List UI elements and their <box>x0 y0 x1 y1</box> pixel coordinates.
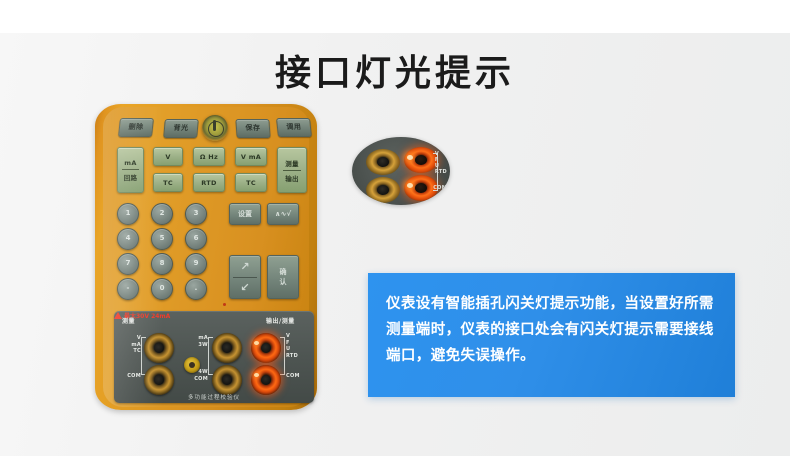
key-3[interactable]: 3 <box>185 203 207 225</box>
key-dot[interactable]: . <box>185 278 207 300</box>
jack-output-com[interactable] <box>251 365 281 395</box>
arrow-down-icon: ↙ <box>230 278 260 298</box>
terminal-label-ma-3w: mA3W <box>190 335 208 348</box>
arrow-up-icon: ↗ <box>230 257 260 277</box>
key-9[interactable]: 9 <box>185 253 207 275</box>
key-6[interactable]: 6 <box>185 228 207 250</box>
save-button[interactable]: 保存 <box>235 119 270 138</box>
v-ma-key[interactable]: V mA <box>235 147 267 166</box>
ohm-hz-key[interactable]: Ω Hz <box>193 147 225 166</box>
jack-measure-v-ma-tc[interactable] <box>144 333 174 363</box>
bracket <box>280 337 285 375</box>
page-root: 接口灯光提示 删除 背光 保存 调用 mA 回路 V <box>0 0 790 456</box>
terminal-closeup-inset: VFURTD COM <box>352 137 450 205</box>
measure-section-label: 测量 <box>122 316 135 325</box>
confirm-button[interactable]: 确 认 <box>267 255 299 299</box>
tc-key-2[interactable]: TC <box>235 173 267 192</box>
measure-output-key-bottom: 输出 <box>285 173 299 183</box>
device-photo: 删除 背光 保存 调用 mA 回路 V Ω Hz V mA TC RTD <box>95 104 317 410</box>
rtd-key[interactable]: RTD <box>193 173 225 192</box>
delete-button[interactable]: 删除 <box>118 118 154 137</box>
key-5[interactable]: 5 <box>151 228 173 250</box>
power-button[interactable] <box>202 115 228 141</box>
divider <box>283 170 301 171</box>
arrow-button[interactable]: ↗ ↙ <box>229 255 261 299</box>
device-function-key-area: mA 回路 V Ω Hz V mA TC RTD TC 测量 输出 <box>117 147 311 197</box>
backlight-button[interactable]: 背光 <box>163 119 199 138</box>
ma-loop-key-bottom: 回路 <box>124 172 138 182</box>
ma-loop-key-top: mA <box>124 159 136 167</box>
inset-jack-bottom-left <box>366 177 400 203</box>
device-top-button-row: 删除 背光 保存 调用 <box>119 115 309 137</box>
numeric-keypad: 1 2 3 4 5 6 7 8 9 - 0 . <box>117 203 217 299</box>
key-0[interactable]: 0 <box>151 278 173 300</box>
page-title: 接口灯光提示 <box>0 44 790 96</box>
output-measure-section-label: 输出/测量 <box>266 316 295 325</box>
terminal-label-v-ma-tc: VmATC <box>121 335 141 355</box>
device-brand-text: 多功能过程校验仪 <box>114 393 314 401</box>
power-icon <box>208 121 224 137</box>
ma-loop-key[interactable]: mA 回路 <box>117 147 144 193</box>
inset-jack-top-left <box>366 149 400 175</box>
terminal-label-com-right: COM <box>286 373 308 380</box>
tc-key-1[interactable]: TC <box>153 173 183 192</box>
key-7[interactable]: 7 <box>117 253 139 275</box>
confirm-button-top: 确 <box>280 267 287 277</box>
background-top-band <box>0 0 790 33</box>
description-callout: 仪表设有智能插孔闪关灯提示功能，当设置好所需测量端时，仪表的接口处会有闪关灯提示… <box>368 273 735 397</box>
terminal-label-com-left: COM <box>119 373 141 380</box>
waveform-button[interactable]: ∧∿√ <box>267 203 299 225</box>
inset-label-v-f-u-rtd: VFURTD <box>435 151 447 175</box>
setting-button[interactable]: 设置 <box>229 203 261 225</box>
v-key[interactable]: V <box>153 147 183 166</box>
callout-text: 仪表设有智能插孔闪关灯提示功能，当设置好所需测量端时，仪表的接口处会有闪关灯提示… <box>368 273 735 369</box>
ground-terminal[interactable] <box>184 357 200 373</box>
jack-measure-com[interactable] <box>144 365 174 395</box>
jack-output-v-f-u-rtd[interactable] <box>251 333 281 363</box>
terminal-panel: 测量 最大30V 24mA 输出/测量 VmATC COM mA3W 4WCOM… <box>114 311 314 403</box>
key-8[interactable]: 8 <box>151 253 173 275</box>
warning-triangle-icon <box>114 312 122 319</box>
terminal-label-v-f-u-rtd: VFURTD <box>286 333 308 359</box>
inset-label-com: COM <box>433 185 447 191</box>
key-2[interactable]: 2 <box>151 203 173 225</box>
jack-output-ma-3w[interactable] <box>212 333 242 363</box>
device-faceplate: 删除 背光 保存 调用 mA 回路 V Ω Hz V mA TC RTD <box>103 107 309 407</box>
status-led <box>223 303 226 306</box>
divider <box>122 169 139 170</box>
measure-output-key-top: 测量 <box>285 158 299 168</box>
key-4[interactable]: 4 <box>117 228 139 250</box>
key-1[interactable]: 1 <box>117 203 139 225</box>
confirm-button-bottom: 认 <box>280 277 287 287</box>
measure-output-key[interactable]: 测量 输出 <box>277 147 307 193</box>
key-minus[interactable]: - <box>117 278 139 300</box>
jack-output-4w-com[interactable] <box>212 365 242 395</box>
recall-button[interactable]: 调用 <box>276 118 312 137</box>
